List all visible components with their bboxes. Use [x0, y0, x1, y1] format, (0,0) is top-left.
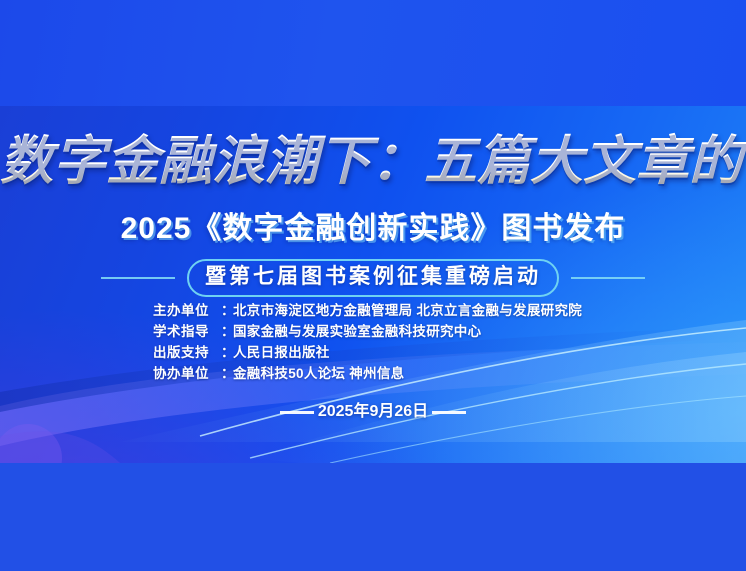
date-rule-right — [432, 411, 466, 414]
credit-label: 协办单位 — [153, 363, 221, 384]
bottom-background-strip — [0, 463, 746, 571]
credit-colon: ： — [221, 363, 233, 384]
date-rule-left — [280, 411, 314, 414]
credits-block: 主办单位 ： 北京市海淀区地方金融管理局 北京立言金融与发展研究院 学术指导 ：… — [0, 300, 746, 384]
credit-colon: ： — [221, 300, 233, 321]
credit-label: 出版支持 — [153, 342, 221, 363]
credit-label: 主办单位 — [153, 300, 221, 321]
credit-value: 人民日报出版社 — [233, 342, 330, 363]
top-background-band — [0, 0, 746, 106]
credit-row-publishing-support: 出版支持 ： 人民日报出版社 — [153, 342, 593, 363]
event-date: 2025年9月26日 — [318, 402, 428, 422]
poster-subtitle: 2025《数字金融创新实践》图书发布 — [0, 209, 746, 249]
credit-row-co-organizer: 协办单位 ： 金融科技50人论坛 神州信息 — [153, 363, 593, 384]
credit-row-organizer: 主办单位 ： 北京市海淀区地方金融管理局 北京立言金融与发展研究院 — [153, 300, 593, 321]
credit-colon: ： — [221, 321, 233, 342]
poster-canvas: 数字金融浪潮下：五篇大文章的破局与重构 2025《数字金融创新实践》图书发布 暨… — [0, 0, 746, 571]
pill-banner-row: 暨第七届图书案例征集重磅启动 — [0, 260, 746, 296]
credit-row-academic-guidance: 学术指导 ： 国家金融与发展实验室金融科技研究中心 — [153, 321, 593, 342]
decorative-blob-left — [0, 431, 120, 463]
credit-value: 国家金融与发展实验室金融科技研究中心 — [233, 321, 481, 342]
rule-right — [571, 277, 645, 279]
credit-colon: ： — [221, 342, 233, 363]
rule-left — [101, 277, 175, 279]
event-date-row: 2025年9月26日 — [0, 402, 746, 422]
event-pill-badge: 暨第七届图书案例征集重磅启动 — [187, 259, 559, 297]
credit-value: 北京市海淀区地方金融管理局 北京立言金融与发展研究院 — [233, 300, 582, 321]
credit-value: 金融科技50人论坛 神州信息 — [233, 363, 404, 384]
credit-label: 学术指导 — [153, 321, 221, 342]
page-title: 数字金融浪潮下：五篇大文章的破局与重构 — [0, 131, 746, 193]
